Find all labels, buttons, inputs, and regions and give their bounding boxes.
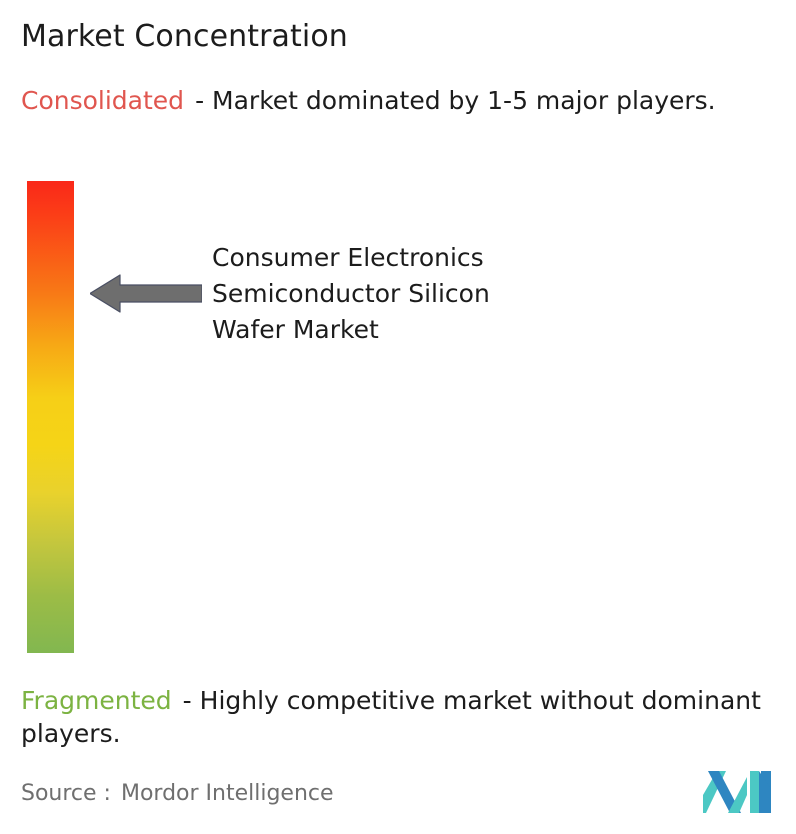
market-label-line-1: Consumer Electronics: [212, 240, 632, 276]
source-attribution: Source : Mordor Intelligence: [21, 781, 334, 806]
page-title: Market Concentration: [21, 19, 348, 54]
market-label-line-3: Wafer Market: [212, 312, 632, 348]
legend-consolidated: Consolidated- Market dominated by 1-5 ma…: [21, 84, 781, 117]
market-concentration-infographic: Market Concentration Consolidated- Marke…: [0, 0, 796, 834]
source-label: Source :: [21, 781, 111, 806]
pointer-arrow-icon: [90, 271, 202, 316]
legend-consolidated-description: - Market dominated by 1-5 major players.: [195, 86, 716, 115]
market-label: Consumer Electronics Semiconductor Silic…: [212, 240, 632, 348]
legend-consolidated-keyword: Consolidated: [21, 86, 184, 115]
concentration-gradient-bar: [27, 181, 74, 653]
legend-fragmented-keyword: Fragmented: [21, 686, 172, 715]
source-name: Mordor Intelligence: [121, 781, 334, 806]
mordor-intelligence-logo-icon: [703, 771, 771, 813]
legend-fragmented: Fragmented- Highly competitive market wi…: [21, 684, 796, 750]
market-label-line-2: Semiconductor Silicon: [212, 276, 632, 312]
